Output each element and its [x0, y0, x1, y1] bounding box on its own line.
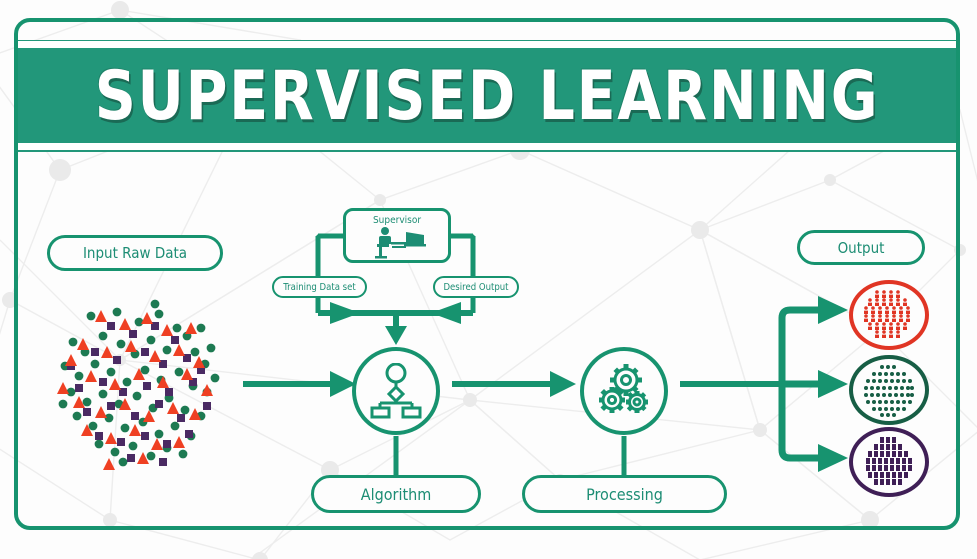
input-raw-data-label[interactable]: Input Raw Data — [47, 235, 223, 271]
desired-output-label[interactable]: Desired Output — [433, 276, 519, 298]
output-label[interactable]: Output — [797, 230, 925, 265]
people-grid-icon — [853, 284, 925, 346]
gears-icon — [596, 362, 652, 420]
algorithm-label[interactable]: Algorithm — [311, 475, 481, 513]
output-dots-grid[interactable] — [849, 355, 929, 425]
person-at-desk-icon — [362, 226, 432, 260]
output-people-grid[interactable] — [849, 280, 929, 350]
infographic-canvas: SUPERVISED LEARNING — [0, 0, 977, 559]
training-data-set-label[interactable]: Training Data set — [272, 276, 367, 298]
content-layer: Input Raw Data Output Algorithm Processi… — [0, 0, 977, 559]
output-bars-grid[interactable] — [849, 427, 929, 497]
dots-grid-icon — [853, 359, 925, 421]
processing-label[interactable]: Processing — [522, 475, 727, 513]
input-scatter-plot — [55, 292, 235, 472]
supervisor-label: Supervisor — [343, 213, 451, 227]
bars-grid-icon — [853, 431, 925, 493]
flowchart-icon — [370, 363, 422, 419]
